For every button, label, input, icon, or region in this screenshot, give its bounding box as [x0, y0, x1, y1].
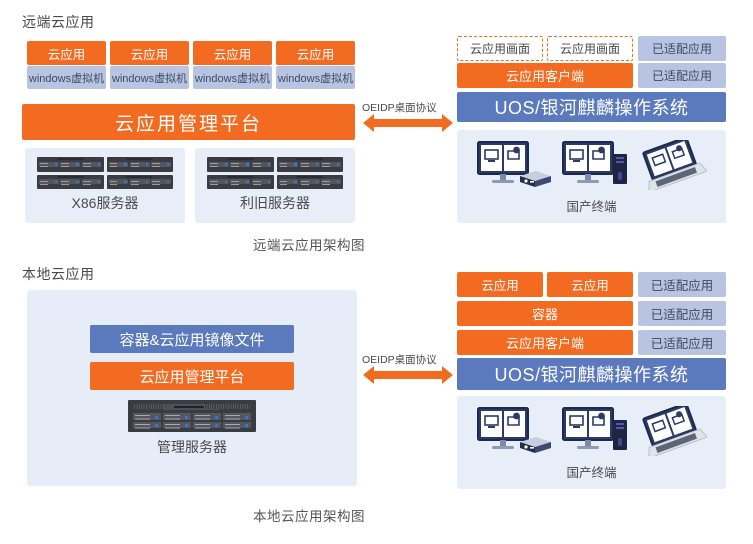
- local-image-bar: 容器&云应用镜像文件: [90, 325, 294, 353]
- remote-client-bar: 云应用客户端: [457, 63, 633, 88]
- local-server-panel: 容器&云应用镜像文件 云应用管理平台 管理服务器: [27, 290, 357, 486]
- remote-server-group-label-legacy: 利旧服务器: [195, 193, 355, 213]
- remote-caption: 远端云应用架构图: [253, 234, 365, 254]
- remote-screen-tile-1: 云应用画面: [457, 36, 543, 61]
- local-adapted-tile-2: 已适配应用: [638, 301, 726, 326]
- remote-app-tile-3: 云应用: [193, 41, 272, 65]
- local-app-tile-2: 云应用: [547, 272, 633, 297]
- local-terminal-panel: 国产终端: [457, 396, 726, 489]
- remote-terminal-panel: 国产终端: [457, 130, 726, 223]
- server-rack-icon: [277, 157, 344, 172]
- remote-server-group-label-x86: X86服务器: [25, 193, 185, 213]
- server-rack-icon: [277, 175, 344, 190]
- server-rack-icon: [207, 175, 274, 190]
- server-rack-icon: [37, 175, 104, 190]
- remote-server-group-legacy: 利旧服务器: [195, 148, 355, 223]
- monitor-server-icon: [476, 140, 552, 190]
- local-section-title: 本地云应用: [22, 264, 95, 284]
- server-rack-icon: [37, 157, 104, 172]
- management-server-icon: [128, 400, 256, 432]
- server-rack-icon: [107, 157, 174, 172]
- local-server-label: 管理服务器: [27, 437, 357, 457]
- laptop-icon: [641, 140, 707, 190]
- monitor-tower-icon: [561, 406, 631, 456]
- monitor-server-icon: [476, 406, 552, 456]
- local-adapted-tile-1: 已适配应用: [638, 272, 726, 297]
- remote-vm-tile-1: windows虚拟机: [27, 66, 106, 89]
- remote-section-title: 远端云应用: [22, 12, 95, 32]
- remote-vm-tile-2: windows虚拟机: [110, 66, 189, 89]
- remote-app-tile-1: 云应用: [27, 41, 106, 65]
- remote-terminal-label: 国产终端: [457, 196, 726, 215]
- server-rack-icon: [107, 175, 174, 190]
- local-terminal-label: 国产终端: [457, 462, 726, 481]
- remote-adapted-tile-1: 已适配应用: [638, 36, 726, 61]
- laptop-icon: [641, 406, 707, 456]
- local-client-bar: 云应用客户端: [457, 330, 633, 355]
- architecture-diagram: 远端云应用 云应用 云应用 云应用 云应用 windows虚拟机 windows…: [0, 0, 753, 544]
- rack-grid: [37, 157, 173, 189]
- rack-grid: [207, 157, 343, 189]
- local-app-tile-1: 云应用: [457, 272, 543, 297]
- remote-screen-tile-2: 云应用画面: [547, 36, 633, 61]
- local-protocol-arrow-icon: [362, 364, 454, 386]
- remote-vm-tile-4: windows虚拟机: [276, 66, 355, 89]
- local-platform-bar: 云应用管理平台: [90, 362, 294, 390]
- local-os-bar: UOS/银河麒麟操作系统: [457, 358, 726, 390]
- local-adapted-tile-3: 已适配应用: [638, 330, 726, 355]
- server-rack-icon: [207, 157, 274, 172]
- remote-app-tile-4: 云应用: [276, 41, 355, 65]
- remote-platform-bar: 云应用管理平台: [22, 104, 355, 140]
- local-container-bar: 容器: [457, 301, 633, 326]
- remote-app-tile-2: 云应用: [110, 41, 189, 65]
- monitor-tower-icon: [561, 140, 631, 190]
- remote-server-group-x86: X86服务器: [25, 148, 185, 223]
- local-caption: 本地云应用架构图: [253, 505, 365, 525]
- remote-os-bar: UOS/银河麒麟操作系统: [457, 92, 726, 122]
- remote-vm-tile-3: windows虚拟机: [193, 66, 272, 89]
- remote-protocol-arrow-icon: [362, 112, 454, 134]
- remote-adapted-tile-2: 已适配应用: [638, 63, 726, 88]
